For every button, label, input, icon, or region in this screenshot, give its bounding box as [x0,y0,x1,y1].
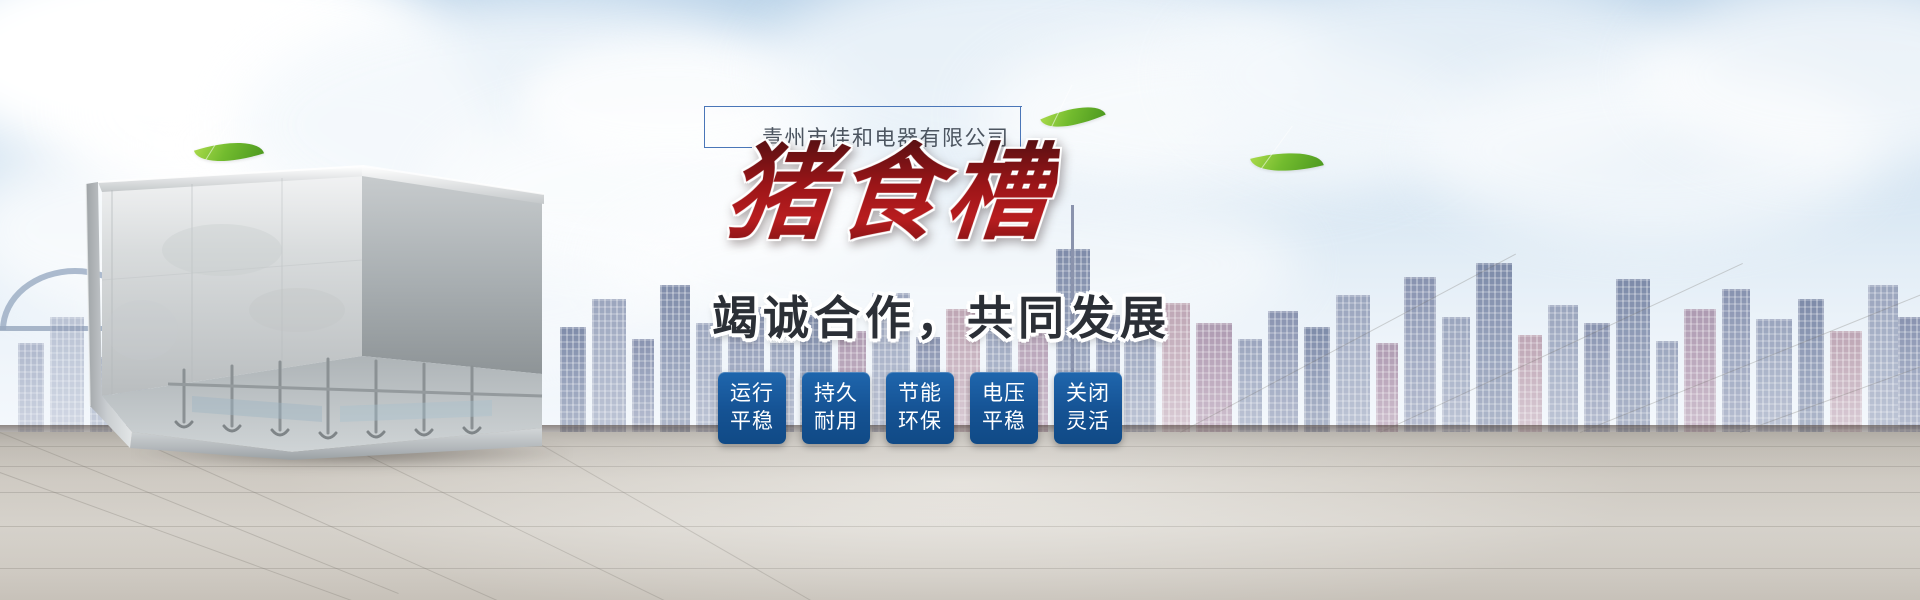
feature-badge-1[interactable]: 持久 耐用 [802,372,870,444]
promo-banner: 青州市佳和电器有限公司 猪食槽 竭诚合作，共同发展 运行 平稳 持久 耐用 节能… [0,0,1920,600]
badge-line-1: 电压 [982,380,1026,408]
banner-copy: 青州市佳和电器有限公司 猪食槽 竭诚合作，共同发展 [700,96,1340,154]
badge-line-2: 耐用 [814,408,858,436]
badge-line-1: 节能 [898,380,942,408]
page-title: 猪食槽 [721,140,1061,249]
badge-line-1: 关闭 [1066,380,1110,408]
feature-badge-list: 运行 平稳 持久 耐用 节能 环保 电压 平稳 关闭 灵活 [718,372,1122,444]
product-image-pig-trough [72,160,572,460]
trough-illustration [72,160,572,460]
badge-line-2: 平稳 [982,408,1026,436]
badge-line-2: 环保 [898,408,942,436]
banner-subtitle: 竭诚合作，共同发展 [712,282,1171,348]
feature-badge-4[interactable]: 关闭 灵活 [1054,372,1122,444]
badge-line-1: 持久 [814,380,858,408]
feature-badge-2[interactable]: 节能 环保 [886,372,954,444]
feature-badge-0[interactable]: 运行 平稳 [718,372,786,444]
badge-line-2: 灵活 [1066,408,1110,436]
feature-badge-3[interactable]: 电压 平稳 [970,372,1038,444]
badge-line-2: 平稳 [730,408,774,436]
badge-line-1: 运行 [730,380,774,408]
